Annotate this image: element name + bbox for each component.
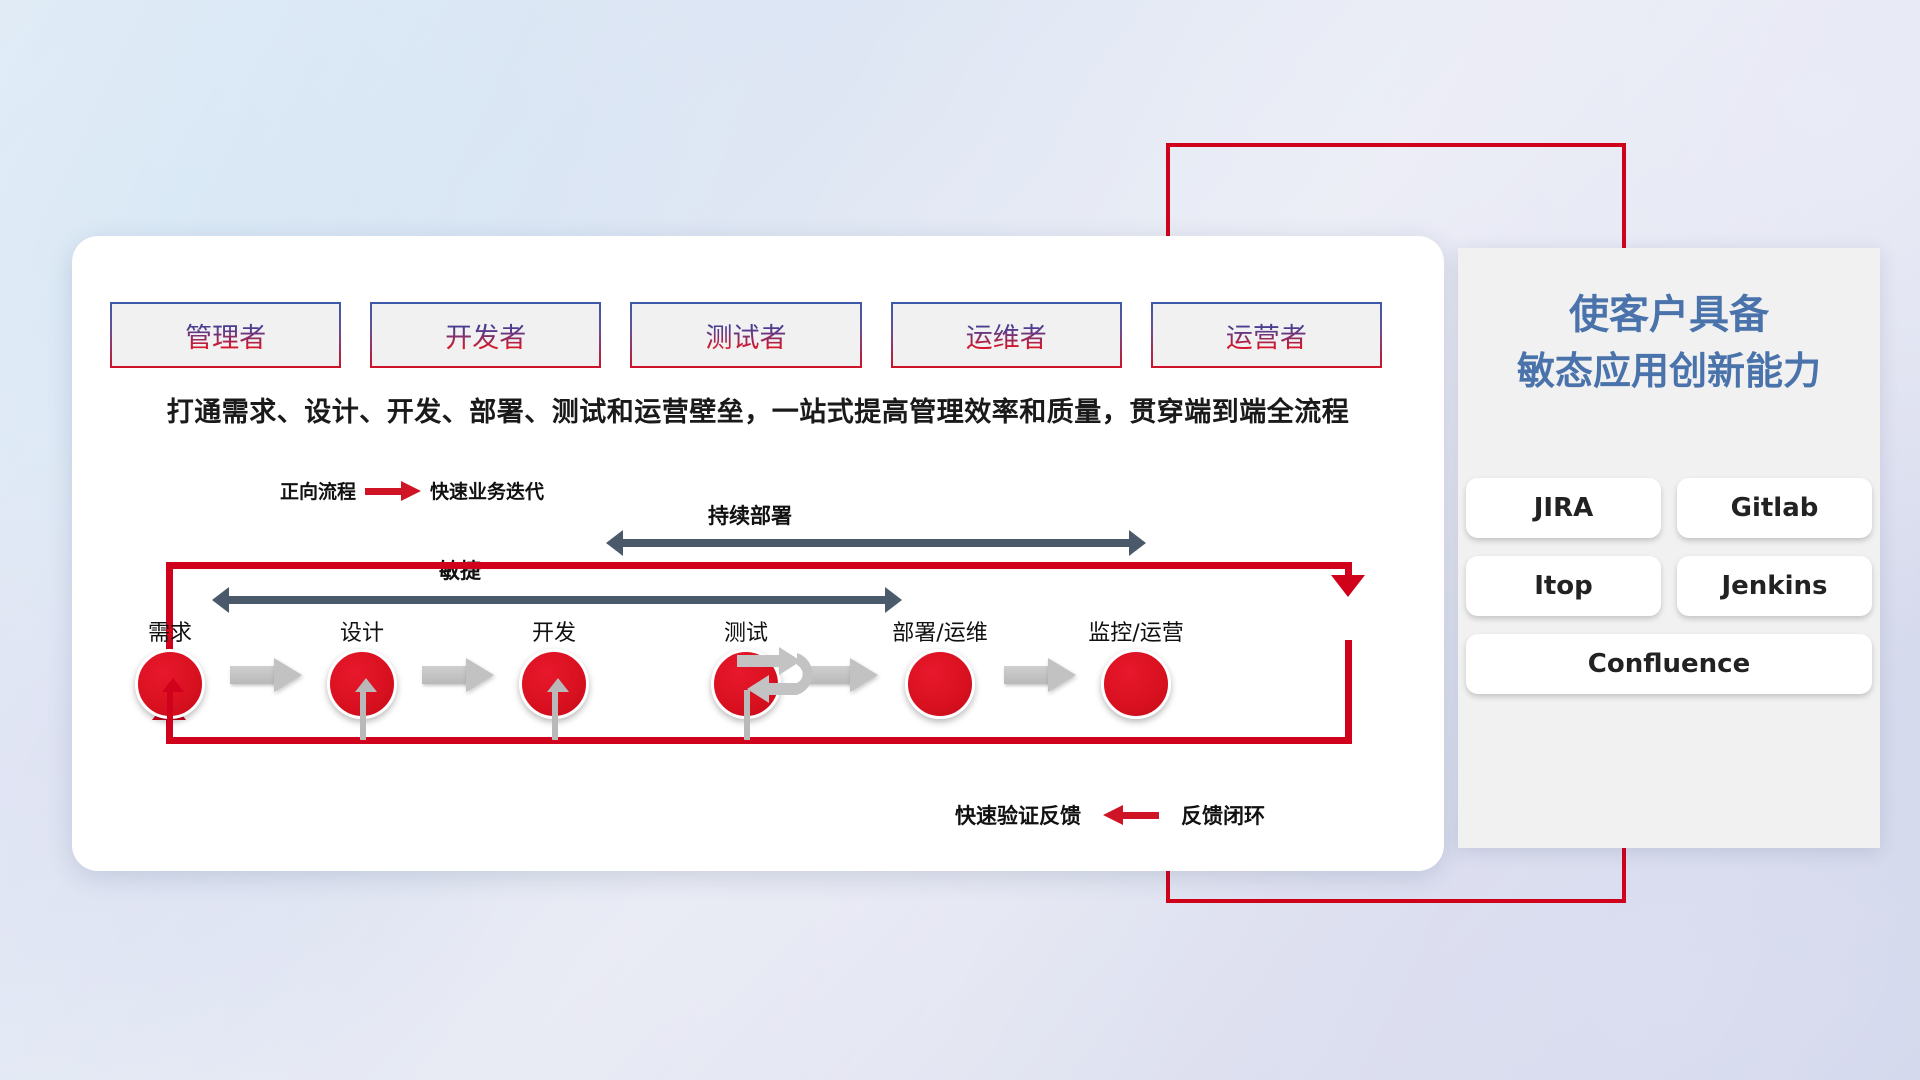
arrow-left-red-icon [1103, 805, 1159, 825]
agile-double-arrow-icon [212, 587, 902, 613]
tool-button-jira[interactable]: JIRA [1466, 478, 1661, 538]
tool-button-jenkins[interactable]: Jenkins [1677, 556, 1872, 616]
panel-title: 使客户具备 敏态应用创新能力 [1458, 288, 1880, 397]
feedback-tick-line [167, 690, 173, 740]
tool-button-itop[interactable]: Itop [1466, 556, 1661, 616]
feedback-label-right: 反馈闭环 [1181, 800, 1265, 830]
feedback-tick-line [360, 690, 366, 740]
bracket-bottom-segment [1166, 899, 1626, 903]
stage-label: 开发 [494, 615, 614, 647]
pipeline-stage-monitor-operate[interactable]: 监控/运营 [1076, 615, 1196, 719]
arrow-right-red-icon [365, 481, 421, 501]
stage-dot-icon [1101, 649, 1171, 719]
flow-arrow-icon [1004, 658, 1078, 692]
stage-label: 部署/运维 [880, 615, 1000, 647]
loop-top-line [166, 562, 1352, 569]
stage-label: 监控/运营 [1076, 615, 1196, 647]
role-label: 运营者 [1226, 316, 1307, 355]
feedback-legend: 快速验证反馈 反馈闭环 [955, 800, 1265, 830]
tool-button-gitlab[interactable]: Gitlab [1677, 478, 1872, 538]
role-label: 开发者 [445, 316, 526, 355]
role-box-ops[interactable]: 运维者 [891, 302, 1122, 368]
role-box-tester[interactable]: 测试者 [630, 302, 861, 368]
role-label: 测试者 [706, 316, 787, 355]
stage-dot-icon [905, 649, 975, 719]
flow-arrow-icon [230, 658, 304, 692]
feedback-tick-line [744, 690, 750, 740]
feedback-label-left: 快速验证反馈 [955, 800, 1081, 830]
role-box-manager[interactable]: 管理者 [110, 302, 341, 368]
feedback-tick-arrow-icon [162, 678, 184, 692]
stage-label: 需求 [110, 615, 230, 647]
role-box-operator[interactable]: 运营者 [1151, 302, 1382, 368]
forward-flow-label-left: 正向流程 [280, 477, 356, 504]
loop-bottom-line [166, 737, 1352, 744]
feedback-tick-line [552, 690, 558, 740]
feedback-tick-arrow-icon [355, 678, 377, 692]
role-label: 运维者 [966, 316, 1047, 355]
panel-title-line2: 敏态应用创新能力 [1458, 346, 1880, 397]
stage-label: 测试 [686, 615, 806, 647]
continuous-deploy-label: 持续部署 [600, 500, 900, 530]
role-box-developer[interactable]: 开发者 [370, 302, 601, 368]
feedback-tick-arrow-icon [547, 678, 569, 692]
flow-arrow-icon [422, 658, 496, 692]
agile-label: 敏捷 [300, 555, 620, 585]
loop-arrow-down-icon [1331, 575, 1365, 597]
continuous-deploy-double-arrow-icon [606, 530, 1146, 556]
forward-flow-label-right: 快速业务迭代 [430, 477, 544, 504]
stage-label: 设计 [302, 615, 422, 647]
forward-flow-legend: 正向流程 快速业务迭代 [280, 477, 544, 504]
panel-title-line1: 使客户具备 [1569, 292, 1769, 338]
tool-button-confluence[interactable]: Confluence [1466, 634, 1872, 694]
pipeline-stage-deploy-ops[interactable]: 部署/运维 [880, 615, 1000, 719]
headline-text: 打通需求、设计、开发、部署、测试和运营壁垒，一站式提高管理效率和质量，贯穿端到端… [72, 390, 1444, 429]
tool-button-list: JIRA Gitlab Itop Jenkins Confluence [1466, 478, 1872, 694]
bracket-top-segment [1166, 143, 1626, 147]
role-label: 管理者 [185, 316, 266, 355]
role-box-row: 管理者 开发者 测试者 运维者 运营者 [110, 302, 1382, 368]
